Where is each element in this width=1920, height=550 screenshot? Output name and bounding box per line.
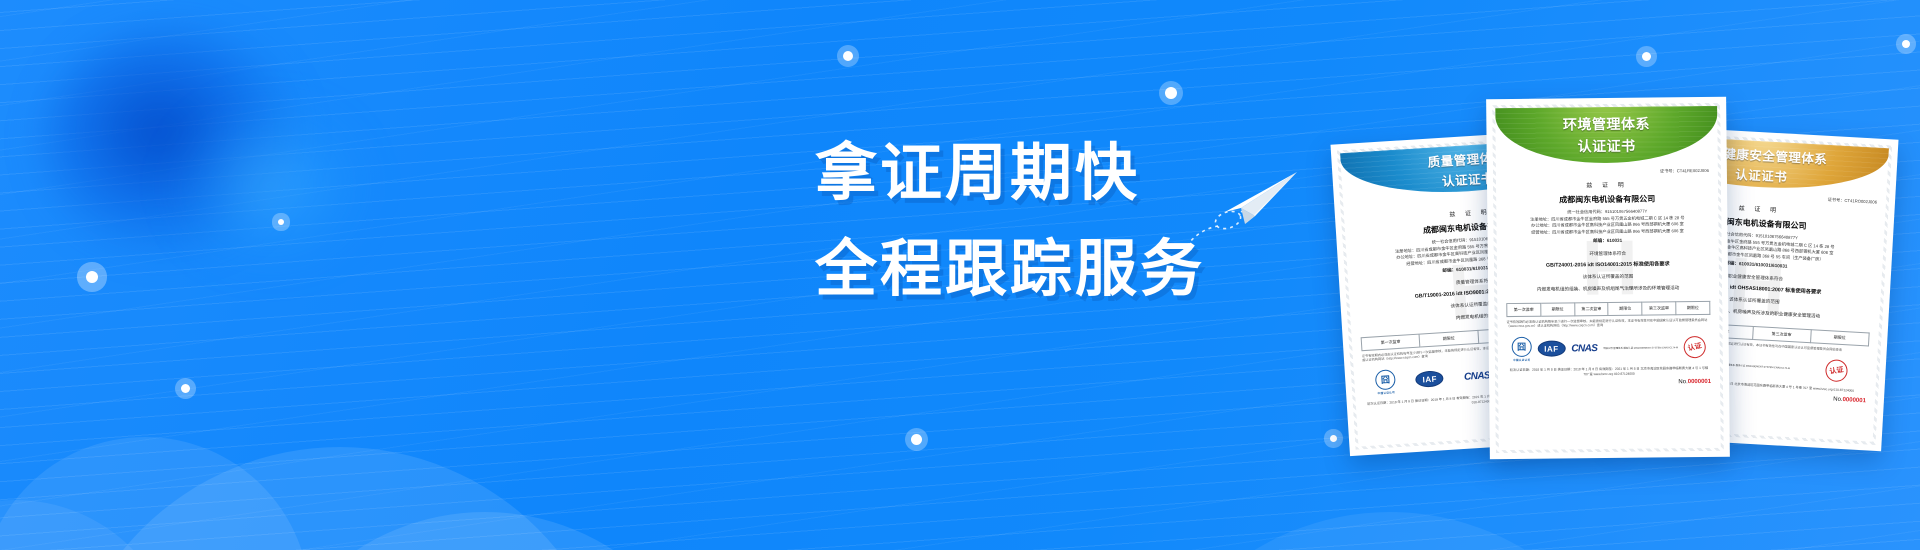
china-certification-glyph: 囧 <box>1375 369 1396 390</box>
audit-cell: 期限位 <box>1541 302 1575 316</box>
certificate-company: 成都闽东电机设备有限公司 <box>1505 193 1709 206</box>
china-certification-label: 中国认证认可 <box>1377 390 1395 395</box>
decor-dot-7 <box>1330 435 1337 442</box>
audit-cell: 期限位 <box>1811 329 1870 346</box>
promo-banner: 拿证周期快 全程跟踪服务 质量管理体系 认证证书 H <box>0 0 1920 550</box>
certificate-title-line-2: 认证证书 <box>1735 163 1788 185</box>
headline-block: 拿证周期快 全程跟踪服务 <box>815 143 1205 301</box>
paper-plane-icon <box>1185 160 1305 250</box>
decor-dot-3 <box>181 384 190 393</box>
certificate-logos: 囧 中国认证认可 IAF CNAS 中国认可 管理体系 服务认证 MANAGEM… <box>1507 335 1711 362</box>
audit-cell: 第一次监审 <box>1361 333 1421 351</box>
certificate-body: H 证书号：CT41RE002J006 兹 证 明 成都闽东电机设备有限公司 统… <box>1496 162 1720 392</box>
certificate-number: No.0000001 <box>1507 379 1711 387</box>
china-certification-logo: 囧 中国认证认可 <box>1375 369 1397 395</box>
audit-cell: 第三次监审 <box>1753 326 1812 343</box>
audit-cell: 第二次监审 <box>1575 302 1609 316</box>
certificate-audit-table: 第一次监审 期限位 第二次监审 期限位 第三次监审 期限位 <box>1506 301 1710 317</box>
decor-dot-8 <box>1642 52 1651 61</box>
certificate-number-value: 0000001 <box>1688 379 1711 385</box>
certificate-attest-label: 兹 证 明 <box>1505 179 1709 190</box>
certificate-number-value: 0000001 <box>1842 397 1866 404</box>
certificate-number-prefix: No. <box>1678 380 1687 386</box>
certificate-scope: 内燃发电机组的组装、机房噪声及机组尾气治理所涉及的环境管理活动 <box>1506 285 1710 294</box>
iaf-logo: IAF <box>1537 341 1565 357</box>
audit-cell: 期限位 <box>1609 302 1643 316</box>
audit-cell: 期限位 <box>1676 301 1710 315</box>
headline-line-1: 拿证周期快 <box>815 143 1205 205</box>
certificate-title-line-2: 认证证书 <box>1578 136 1636 157</box>
background-glow-cyan <box>175 105 365 265</box>
background-circle-5 <box>1130 512 1650 550</box>
headline-line-2: 全程跟踪服务 <box>815 239 1205 301</box>
china-certification-logo: 囧 中国认证认可 <box>1512 337 1532 362</box>
red-seal-stamp: 认证 <box>1824 359 1849 384</box>
audit-cell: 期限位 <box>1420 330 1479 348</box>
cnas-text-block: 中国认可 管理体系 服务认证 MANAGEMENT SYSTEM CNAS-C1… <box>1603 346 1678 350</box>
certificate-page: 环境管理体系 认证证书 H 证书号：CT41RE002J006 兹 证 明 成都… <box>1495 106 1721 450</box>
certificates-group: 质量管理体系 认证证书 H 证书号：CT41RQ002J006 兹 证 明 成都… <box>1340 88 1920 478</box>
certificate-number-prefix: No. <box>1833 397 1843 404</box>
certificate-serial: 证书号：CT41RE002J006 <box>1505 168 1709 176</box>
certificate-scope-label: 该体系认证所覆盖的范围 <box>1506 273 1710 281</box>
iaf-logo: IAF <box>1415 371 1444 389</box>
certificate-environment[interactable]: 环境管理体系 认证证书 H 证书号：CT41RE002J006 兹 证 明 成都… <box>1486 97 1730 459</box>
cnas-logo: CNAS <box>1464 370 1491 383</box>
decor-dot-1 <box>278 219 284 225</box>
red-seal-stamp: 认证 <box>1682 334 1708 360</box>
decor-dot-9 <box>1902 40 1910 48</box>
certificate-note: 证书有效期内必须由认证机构每年至少进行一次监督审核，未能按规定进行认证有效，本证… <box>1506 318 1710 329</box>
certificate-title-banner: 环境管理体系 认证证书 <box>1495 106 1718 164</box>
certificate-postcode: 邮编：610031 <box>1506 237 1710 245</box>
decor-dot-5 <box>1165 87 1177 99</box>
cnas-logo: CNAS <box>1571 343 1597 354</box>
china-certification-label: 中国认证认可 <box>1513 358 1530 362</box>
decor-dot-2 <box>86 271 98 283</box>
certificate-standard: GB/T24001-2016 idt ISO14001:2015 标准使用各要求 <box>1506 260 1710 269</box>
audit-cell: 第三次监审 <box>1643 301 1677 315</box>
decor-dot-4 <box>843 51 853 61</box>
audit-cell: 第一次监审 <box>1506 303 1541 317</box>
certificate-title-line-1: 环境管理体系 <box>1563 114 1650 135</box>
decor-dot-6 <box>911 434 922 445</box>
certificate-footer: 初次认证日期：2018 年 1 月 8 日 换证日期：2018 年 1 月 8 … <box>1507 366 1711 378</box>
china-certification-glyph: 囧 <box>1512 337 1532 357</box>
certificate-system-label: 环境管理体系符合 <box>1506 250 1710 258</box>
